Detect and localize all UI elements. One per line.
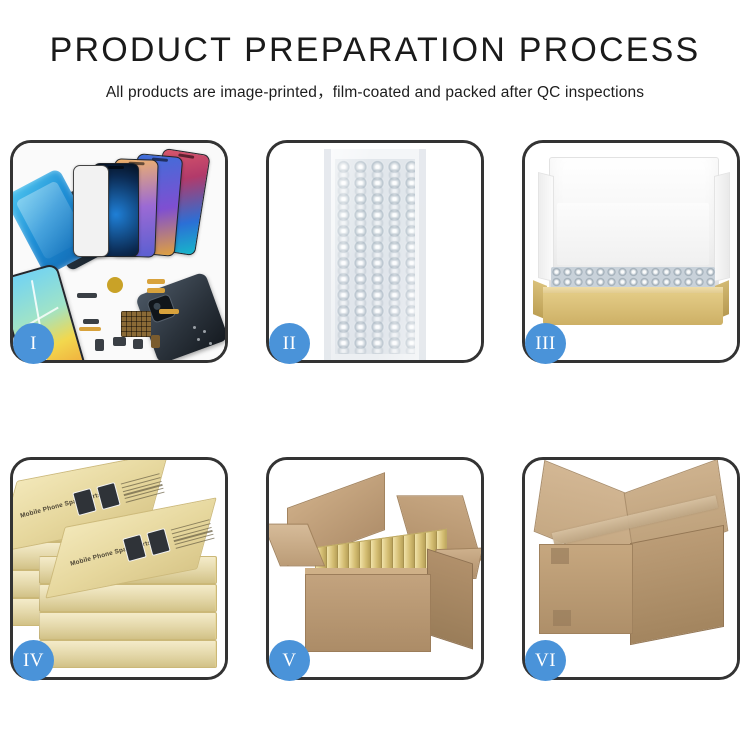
carton-front-face	[305, 574, 431, 652]
part-chip-grid-icon	[121, 311, 151, 337]
step-badge-6: VI	[525, 640, 566, 681]
tape-tab-icon	[551, 548, 569, 564]
part-vibrator-icon	[107, 277, 123, 293]
step-badge-5: V	[269, 640, 310, 681]
phone-screen-blank-icon	[73, 165, 109, 257]
part-sensor-icon	[151, 335, 160, 348]
page-subtitle: All products are image-printed，film-coat…	[0, 80, 750, 102]
process-step-card-4[interactable]: Mobile Phone Spare Parts Mobile Phone Sp…	[10, 457, 228, 680]
screws-group	[191, 324, 217, 350]
part-flex-cable-icon	[159, 309, 179, 314]
spare-parts-scatter	[77, 275, 197, 360]
screw-icon	[203, 330, 206, 333]
process-step-card-6[interactable]: VI	[522, 457, 740, 680]
page-header: PRODUCT PREPARATION PROCESS All products…	[0, 0, 750, 102]
phone-fan-group	[85, 153, 225, 258]
foam-insert-icon	[557, 203, 709, 265]
step-badge-4: IV	[13, 640, 54, 681]
bubble-wrap-pouch-icon	[324, 149, 426, 360]
part-button-icon	[95, 339, 104, 351]
screw-icon	[209, 342, 212, 345]
part-flex-cable-icon	[147, 288, 165, 293]
process-step-grid: I II III	[10, 140, 740, 680]
screw-icon	[197, 338, 200, 341]
page-title: PRODUCT PREPARATION PROCESS	[0, 33, 750, 67]
plastic-sheen	[331, 149, 419, 360]
sealed-carton-side-right	[630, 525, 724, 645]
step-badge-1: I	[13, 323, 54, 364]
part-connector-icon	[83, 319, 99, 324]
part-speaker-icon	[77, 293, 97, 298]
part-camera-icon	[133, 339, 143, 349]
tape-tab-icon	[553, 610, 571, 626]
retail-box-edge	[39, 640, 217, 668]
part-module-icon	[113, 337, 126, 346]
screw-icon	[193, 326, 196, 329]
step-badge-3: III	[525, 323, 566, 364]
retail-box-edge	[39, 612, 217, 640]
process-step-card-3[interactable]: III	[522, 140, 740, 363]
process-step-card-5[interactable]: V	[266, 457, 484, 680]
part-flex-cable-icon	[79, 327, 101, 331]
part-flex-cable-icon	[147, 279, 165, 284]
process-step-card-1[interactable]: I	[10, 140, 228, 363]
process-step-card-2[interactable]: II	[266, 140, 484, 363]
step-badge-2: II	[269, 323, 310, 364]
carton-side-right	[427, 549, 473, 650]
kraft-box-front-icon	[543, 293, 723, 325]
phone-notch-icon	[108, 166, 124, 169]
